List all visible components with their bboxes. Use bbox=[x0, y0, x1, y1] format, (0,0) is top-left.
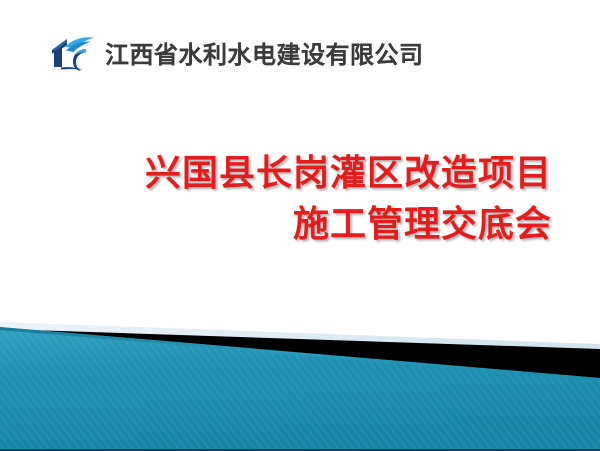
presentation-slide: 江西省水利水电建设有限公司 兴国县长岗灌区改造项目 施工管理交底会 bbox=[0, 0, 600, 451]
company-name-text: 江西省水利水电建设有限公司 bbox=[105, 41, 424, 67]
slide-title: 兴国县长岗灌区改造项目 施工管理交底会 bbox=[40, 148, 552, 250]
title-line-2: 施工管理交底会 bbox=[40, 199, 552, 250]
bottom-decoration-bands bbox=[0, 300, 600, 451]
title-line-1: 兴国县长岗灌区改造项目 bbox=[40, 148, 552, 199]
company-wing-logo-icon bbox=[50, 36, 96, 72]
company-logo-block: 江西省水利水电建设有限公司 bbox=[50, 36, 424, 72]
